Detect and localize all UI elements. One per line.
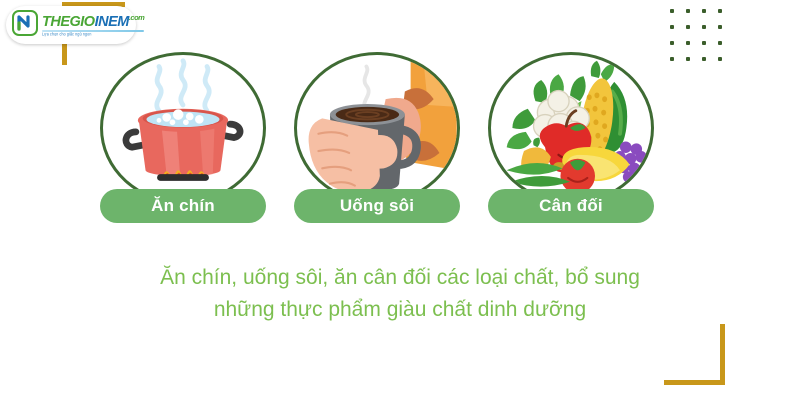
boiling-pot-icon xyxy=(103,55,263,201)
card-label-text: Ăn chín xyxy=(151,196,215,216)
grid-dot xyxy=(670,25,674,29)
grid-dot xyxy=(702,57,706,61)
grid-dot xyxy=(718,25,722,29)
dot-grid-decoration xyxy=(670,9,734,73)
grid-dot xyxy=(686,41,690,45)
caption-line-2: những thực phẩm giàu chất dinh dưỡng xyxy=(0,294,800,326)
card-label-pill[interactable]: Cân đối xyxy=(488,189,654,223)
grid-dot xyxy=(702,9,706,13)
card-uong-soi[interactable]: Uống sôi xyxy=(294,52,460,204)
wordmark-part-inem: INEM xyxy=(95,13,129,29)
grid-dot xyxy=(718,9,722,13)
grid-dot xyxy=(702,41,706,45)
card-an-chin[interactable]: Ăn chín xyxy=(100,52,266,204)
infographic-canvas: THEGIOINEM.com Lựa chọn cho giấc ngủ ngo… xyxy=(0,0,800,400)
brand-wordmark: THEGIOINEM.com xyxy=(42,14,144,29)
fruits-and-vegetables-icon xyxy=(491,55,651,201)
wordmark-suffix: .com xyxy=(129,13,145,22)
corner-bracket-bottom-right xyxy=(664,324,725,385)
illustration-circle xyxy=(488,52,654,204)
card-label-text: Uống sôi xyxy=(340,196,414,216)
brand-tagline: Lựa chọn cho giấc ngủ ngon xyxy=(42,33,144,37)
grid-dot xyxy=(670,57,674,61)
grid-dot xyxy=(718,41,722,45)
hands-holding-hot-mug-icon xyxy=(297,55,457,201)
wordmark-part-thegio: THEGIO xyxy=(42,13,95,29)
illustration-circle xyxy=(100,52,266,204)
grid-dot xyxy=(686,57,690,61)
illustration-circle xyxy=(294,52,460,204)
card-label-text: Cân đối xyxy=(539,196,603,216)
grid-dot xyxy=(686,25,690,29)
grid-dot xyxy=(670,9,674,13)
grid-dot xyxy=(702,25,706,29)
card-can-doi[interactable]: Cân đối xyxy=(488,52,654,204)
grid-dot xyxy=(686,9,690,13)
grid-dot xyxy=(718,57,722,61)
brand-logo[interactable]: THEGIOINEM.com Lựa chọn cho giấc ngủ ngo… xyxy=(6,6,136,44)
caption-line-1: Ăn chín, uống sôi, ăn cân đối các loại c… xyxy=(0,262,800,294)
caption-block: Ăn chín, uống sôi, ăn cân đối các loại c… xyxy=(0,262,800,326)
grid-dot xyxy=(670,41,674,45)
card-label-pill[interactable]: Uống sôi xyxy=(294,189,460,223)
stylized-n-letter-icon xyxy=(12,10,38,41)
card-label-pill[interactable]: Ăn chín xyxy=(100,189,266,223)
